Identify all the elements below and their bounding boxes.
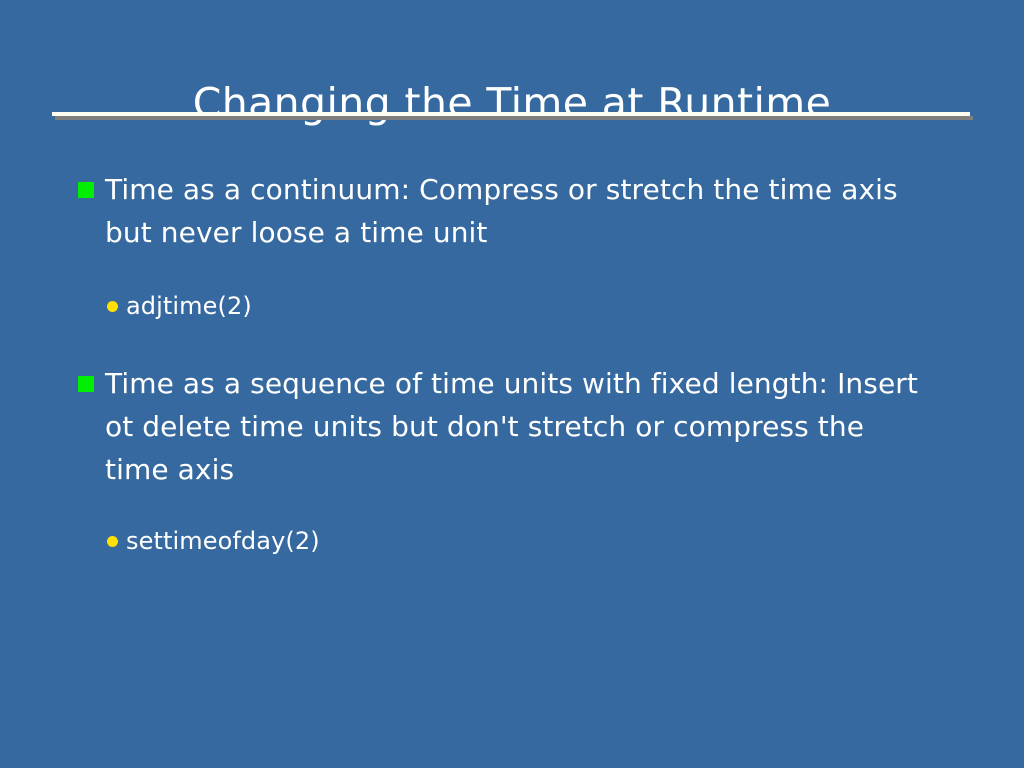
presentation-slide: Changing the Time at Runtime Time as a c… [0,0,1024,768]
bullet-item-level2: settimeofday(2) [0,523,1024,560]
title-divider-line [52,112,970,116]
bullet-text: Time as a sequence of time units with fi… [105,362,936,491]
bullet-item-level1: Time as a continuum: Compress or stretch… [0,168,1024,254]
dot-bullet-icon [107,536,118,547]
title-divider-shadow [55,116,973,120]
bullet-text: adjtime(2) [126,288,936,325]
bullet-item-level1: Time as a sequence of time units with fi… [0,362,1024,491]
spacer [0,325,1024,362]
square-bullet-icon [78,376,94,392]
bullet-text: Time as a continuum: Compress or stretch… [105,168,936,254]
spacer [0,254,1024,288]
square-bullet-icon [78,182,94,198]
dot-bullet-icon [107,301,118,312]
slide-body: Time as a continuum: Compress or stretch… [0,168,1024,728]
spacer [0,491,1024,523]
bullet-item-level2: adjtime(2) [0,288,1024,325]
title-divider [52,112,970,121]
bullet-text: settimeofday(2) [126,523,936,560]
title-block: Changing the Time at Runtime [0,52,1024,155]
